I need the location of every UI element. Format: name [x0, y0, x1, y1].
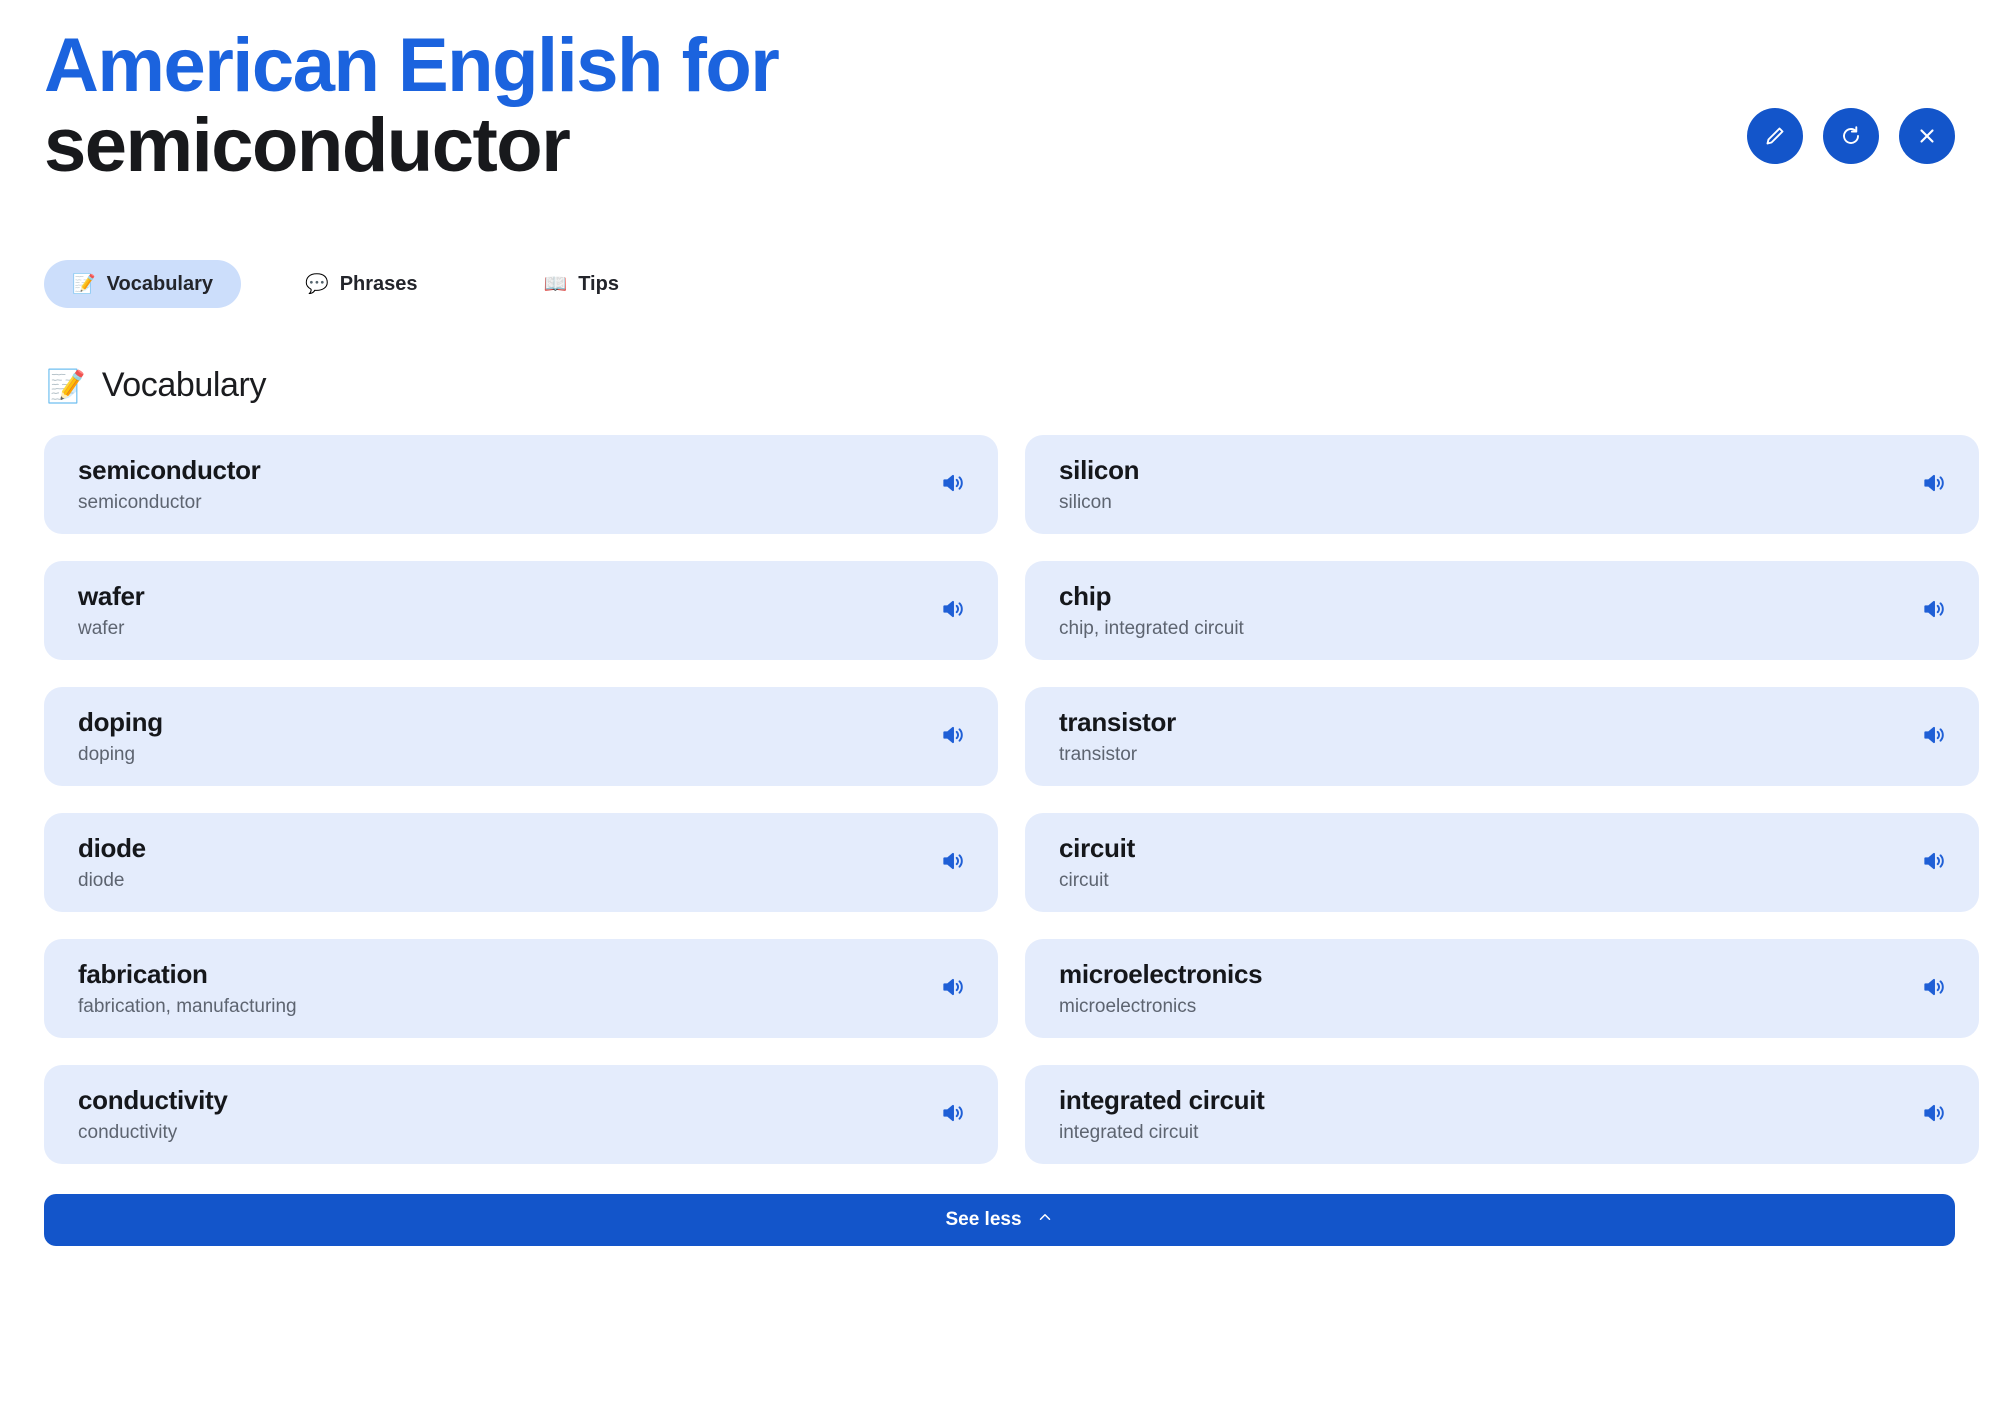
open-book-icon: 📖 — [544, 275, 568, 294]
tab-bar: 📝 Vocabulary 💬 Phrases 📖 Tips — [44, 256, 1955, 312]
vocabulary-translation: fabrication, manufacturing — [78, 996, 968, 1019]
memo-icon: 📝 — [46, 370, 86, 402]
vocabulary-word: microelectronics — [1059, 958, 1949, 991]
speaker-icon — [1921, 974, 1947, 1003]
play-pronunciation-button[interactable] — [936, 1098, 970, 1132]
vocabulary-translation: integrated circuit — [1059, 1122, 1949, 1145]
speech-balloon-icon: 💬 — [305, 275, 329, 294]
vocabulary-card[interactable]: siliconsilicon — [1025, 435, 1979, 534]
vocabulary-card[interactable]: conductivityconductivity — [44, 1065, 998, 1164]
speaker-icon — [1921, 470, 1947, 499]
vocabulary-translation: conductivity — [78, 1122, 968, 1145]
tab-tips-label: Tips — [578, 273, 619, 296]
tab-phrases[interactable]: 💬 Phrases — [277, 260, 446, 308]
vocabulary-word: silicon — [1059, 454, 1949, 487]
play-pronunciation-button[interactable] — [1917, 720, 1951, 754]
lesson-page: American English for semiconductor — [0, 0, 1999, 1411]
play-pronunciation-button[interactable] — [1917, 972, 1951, 1006]
tab-vocabulary[interactable]: 📝 Vocabulary — [44, 260, 241, 308]
vocabulary-word: conductivity — [78, 1084, 968, 1117]
vocabulary-card[interactable]: circuitcircuit — [1025, 813, 1979, 912]
play-pronunciation-button[interactable] — [936, 846, 970, 880]
header-actions — [1747, 108, 1955, 164]
vocabulary-translation: diode — [78, 870, 968, 893]
chevron-up-icon — [1036, 1208, 1054, 1232]
vocabulary-word: circuit — [1059, 832, 1949, 865]
vocabulary-card[interactable]: transistortransistor — [1025, 687, 1979, 786]
vocabulary-translation: circuit — [1059, 870, 1949, 893]
vocabulary-word: transistor — [1059, 706, 1949, 739]
close-button[interactable] — [1899, 108, 1955, 164]
vocabulary-card[interactable]: integrated circuitintegrated circuit — [1025, 1065, 1979, 1164]
vocabulary-translation: doping — [78, 744, 968, 767]
refresh-button[interactable] — [1823, 108, 1879, 164]
vocabulary-word: semiconductor — [78, 454, 968, 487]
vocabulary-card[interactable]: diodediode — [44, 813, 998, 912]
refresh-icon — [1839, 124, 1863, 148]
vocabulary-translation: transistor — [1059, 744, 1949, 767]
vocabulary-translation: wafer — [78, 618, 968, 641]
speaker-icon — [1921, 848, 1947, 877]
vocabulary-translation: silicon — [1059, 492, 1949, 515]
vocabulary-grid: semiconductorsemiconductorsiliconsilicon… — [44, 435, 1955, 1164]
speaker-icon — [1921, 722, 1947, 751]
play-pronunciation-button[interactable] — [1917, 468, 1951, 502]
edit-button[interactable] — [1747, 108, 1803, 164]
close-icon — [1915, 124, 1939, 148]
speaker-icon — [940, 974, 966, 1003]
vocabulary-card[interactable]: dopingdoping — [44, 687, 998, 786]
play-pronunciation-button[interactable] — [936, 468, 970, 502]
page-title: American English for semiconductor — [44, 26, 1144, 186]
vocabulary-word: fabrication — [78, 958, 968, 991]
vocabulary-translation: semiconductor — [78, 492, 968, 515]
vocabulary-card[interactable]: semiconductorsemiconductor — [44, 435, 998, 534]
vocabulary-card[interactable]: chipchip, integrated circuit — [1025, 561, 1979, 660]
play-pronunciation-button[interactable] — [936, 594, 970, 628]
speaker-icon — [940, 470, 966, 499]
vocabulary-word: doping — [78, 706, 968, 739]
vocabulary-word: integrated circuit — [1059, 1084, 1949, 1117]
speaker-icon — [940, 596, 966, 625]
tab-phrases-label: Phrases — [340, 273, 418, 296]
see-less-label: See less — [945, 1209, 1021, 1231]
tab-tips[interactable]: 📖 Tips — [516, 260, 647, 308]
play-pronunciation-button[interactable] — [936, 972, 970, 1006]
section-title: Vocabulary — [102, 366, 266, 405]
speaker-icon — [940, 1100, 966, 1129]
speaker-icon — [940, 848, 966, 877]
vocabulary-card[interactable]: waferwafer — [44, 561, 998, 660]
speaker-icon — [1921, 1100, 1947, 1129]
vocabulary-word: diode — [78, 832, 968, 865]
pencil-icon — [1763, 124, 1787, 148]
page-header: American English for semiconductor — [44, 0, 1955, 250]
play-pronunciation-button[interactable] — [1917, 594, 1951, 628]
section-heading: 📝 Vocabulary — [44, 366, 1955, 405]
page-title-lead: American English for — [44, 26, 1144, 106]
vocabulary-word: chip — [1059, 580, 1949, 613]
speaker-icon — [1921, 596, 1947, 625]
vocabulary-word: wafer — [78, 580, 968, 613]
vocabulary-translation: chip, integrated circuit — [1059, 618, 1949, 641]
page-title-topic: semiconductor — [44, 106, 1144, 186]
speaker-icon — [940, 722, 966, 751]
see-less-button[interactable]: See less — [44, 1194, 1955, 1246]
tab-vocabulary-label: Vocabulary — [107, 273, 213, 296]
vocabulary-card[interactable]: microelectronicsmicroelectronics — [1025, 939, 1979, 1038]
vocabulary-translation: microelectronics — [1059, 996, 1949, 1019]
play-pronunciation-button[interactable] — [1917, 1098, 1951, 1132]
play-pronunciation-button[interactable] — [936, 720, 970, 754]
vocabulary-card[interactable]: fabricationfabrication, manufacturing — [44, 939, 998, 1038]
play-pronunciation-button[interactable] — [1917, 846, 1951, 880]
memo-icon: 📝 — [72, 275, 96, 294]
